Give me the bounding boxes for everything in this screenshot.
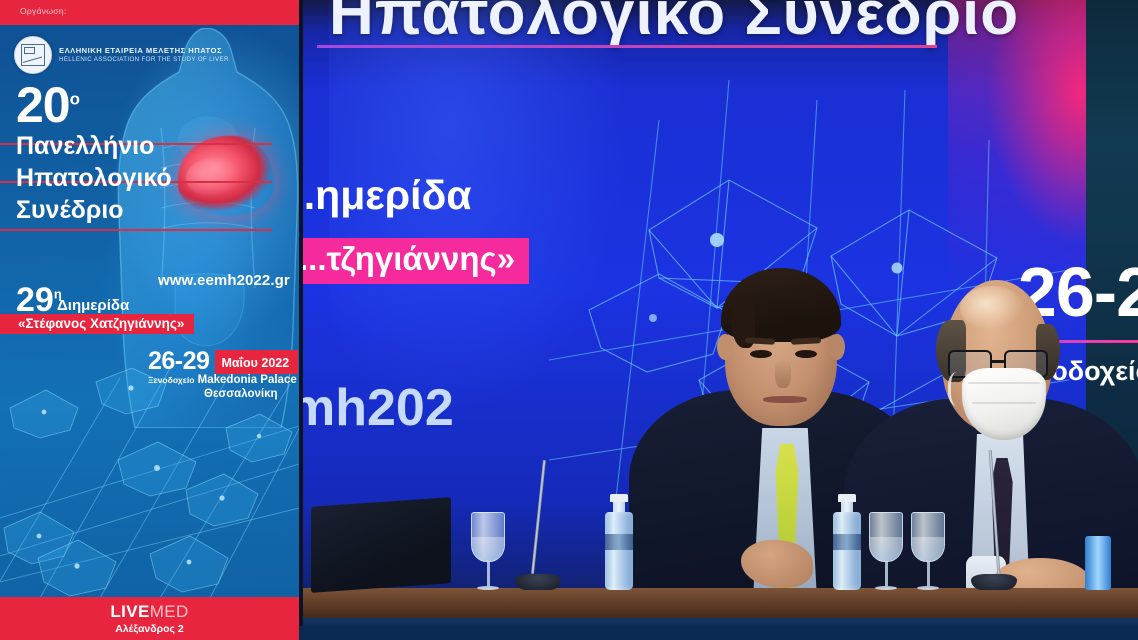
panelist-left-ear-left [717, 334, 733, 360]
livemed-primary: LIVE [110, 602, 149, 621]
second-event-number: 29η [16, 283, 62, 317]
edition-number: 20ο [16, 82, 266, 130]
video-left-frame [299, 0, 303, 640]
beverage-bottle-3 [1085, 536, 1111, 590]
venue-prefix: Ξενοδοχείο [148, 375, 194, 385]
water-bottle-1 [605, 494, 633, 590]
venue-line: Ξενοδοχείο Makedonia Palace [148, 374, 297, 386]
wine-glass-3 [911, 512, 945, 590]
event-date-month: Μαΐου 2022 [215, 350, 298, 374]
second-event-type: Διημερίδα [57, 297, 129, 314]
livemed-secondary: MED [150, 602, 189, 621]
poster-bottom-band: LIVEMED Αλέξανδρος 2 [0, 597, 299, 640]
laptop [311, 497, 451, 593]
wine-glass-2 [869, 512, 903, 590]
wine-glass-1 [471, 512, 505, 590]
conference-website[interactable]: www.eemh2022.gr [158, 272, 290, 289]
association-logo-block: ΕΛΛΗΝΙΚΗ ΕΤΑΙΡΕΙΑ ΜΕΛΕΤΗΣ ΗΠΑΤΟΣ HELLENI… [14, 36, 229, 74]
panelist-left-mouth [763, 396, 807, 403]
microphone-right [971, 450, 1017, 590]
event-date-row: 26-29 Μαΐου 2022 [148, 349, 298, 374]
event-date-days: 26-29 [148, 349, 215, 374]
association-name-english: HELLENIC ASSOCIATION FOR THE STUDY OF LI… [59, 56, 229, 64]
panel-table-surface [303, 588, 1138, 618]
association-seal-icon [14, 36, 52, 74]
backdrop-honoree-tag: ...τζηγιάννης» [299, 238, 529, 284]
video-bottom-strip [299, 626, 1138, 640]
venue-city: Θεσσαλονίκη [204, 388, 278, 400]
livestream-page: Οργάνωση: ΕΛΛΗΝΙΚΗ ΕΤΑΙΡΕΙΑ ΜΕΛΕΤΗΣ ΗΠΑΤ… [0, 0, 1138, 640]
poster-headline: 20ο Πανελλήνιο Ηπατολογικό Συνέδριο [16, 82, 266, 226]
backdrop-subtitle: ...ημερίδα [299, 172, 472, 219]
headline-line-2: Ηπατολογικό [16, 162, 266, 194]
video-stream-pane[interactable]: Ηπατολογικό Συνέδριο ...ημερίδα ...τζηγι… [299, 0, 1138, 640]
water-bottle-2 [833, 494, 861, 590]
panelist-right-head-highlight [960, 286, 1024, 330]
microphone-left [515, 460, 561, 590]
livemed-logo: LIVEMED [110, 603, 188, 620]
panelist-left-nose [775, 358, 791, 388]
edition-number-value: 20 [16, 77, 70, 133]
headline-line-3: Συνέδριο [16, 194, 266, 226]
poster-rule-3 [0, 229, 272, 231]
panelist-left-eye-right [795, 350, 817, 358]
edition-ordinal: ο [70, 89, 79, 108]
organizer-label: Οργάνωση: [20, 6, 67, 16]
backdrop-rule-top [317, 45, 937, 48]
panelist-left-ear-right [829, 334, 845, 360]
umbrella-network-graphic [0, 368, 299, 598]
panelist-left-hair [721, 268, 841, 342]
conference-poster-sidebar: Οργάνωση: ΕΛΛΗΝΙΚΗ ΕΤΑΙΡΕΙΑ ΜΕΛΕΤΗΣ ΗΠΑΤ… [0, 0, 299, 640]
poster-top-band: Οργάνωση: [0, 0, 299, 25]
second-event-honoree: «Στέφανος Χατζηγιάννης» [0, 314, 194, 334]
backdrop-title: Ηπατολογικό Συνέδριο [329, 0, 1019, 49]
headline-line-1: Πανελλήνιο [16, 130, 266, 162]
venue-name: Makedonia Palace [198, 374, 297, 386]
association-name-greek: ΕΛΛΗΝΙΚΗ ΕΤΑΙΡΕΙΑ ΜΕΛΕΤΗΣ ΗΠΑΤΟΣ [59, 46, 229, 55]
backdrop-website: mh202 [299, 378, 454, 438]
panelist-left-eye-left [750, 350, 772, 358]
room-name: Αλέξανδρος 2 [115, 623, 184, 635]
